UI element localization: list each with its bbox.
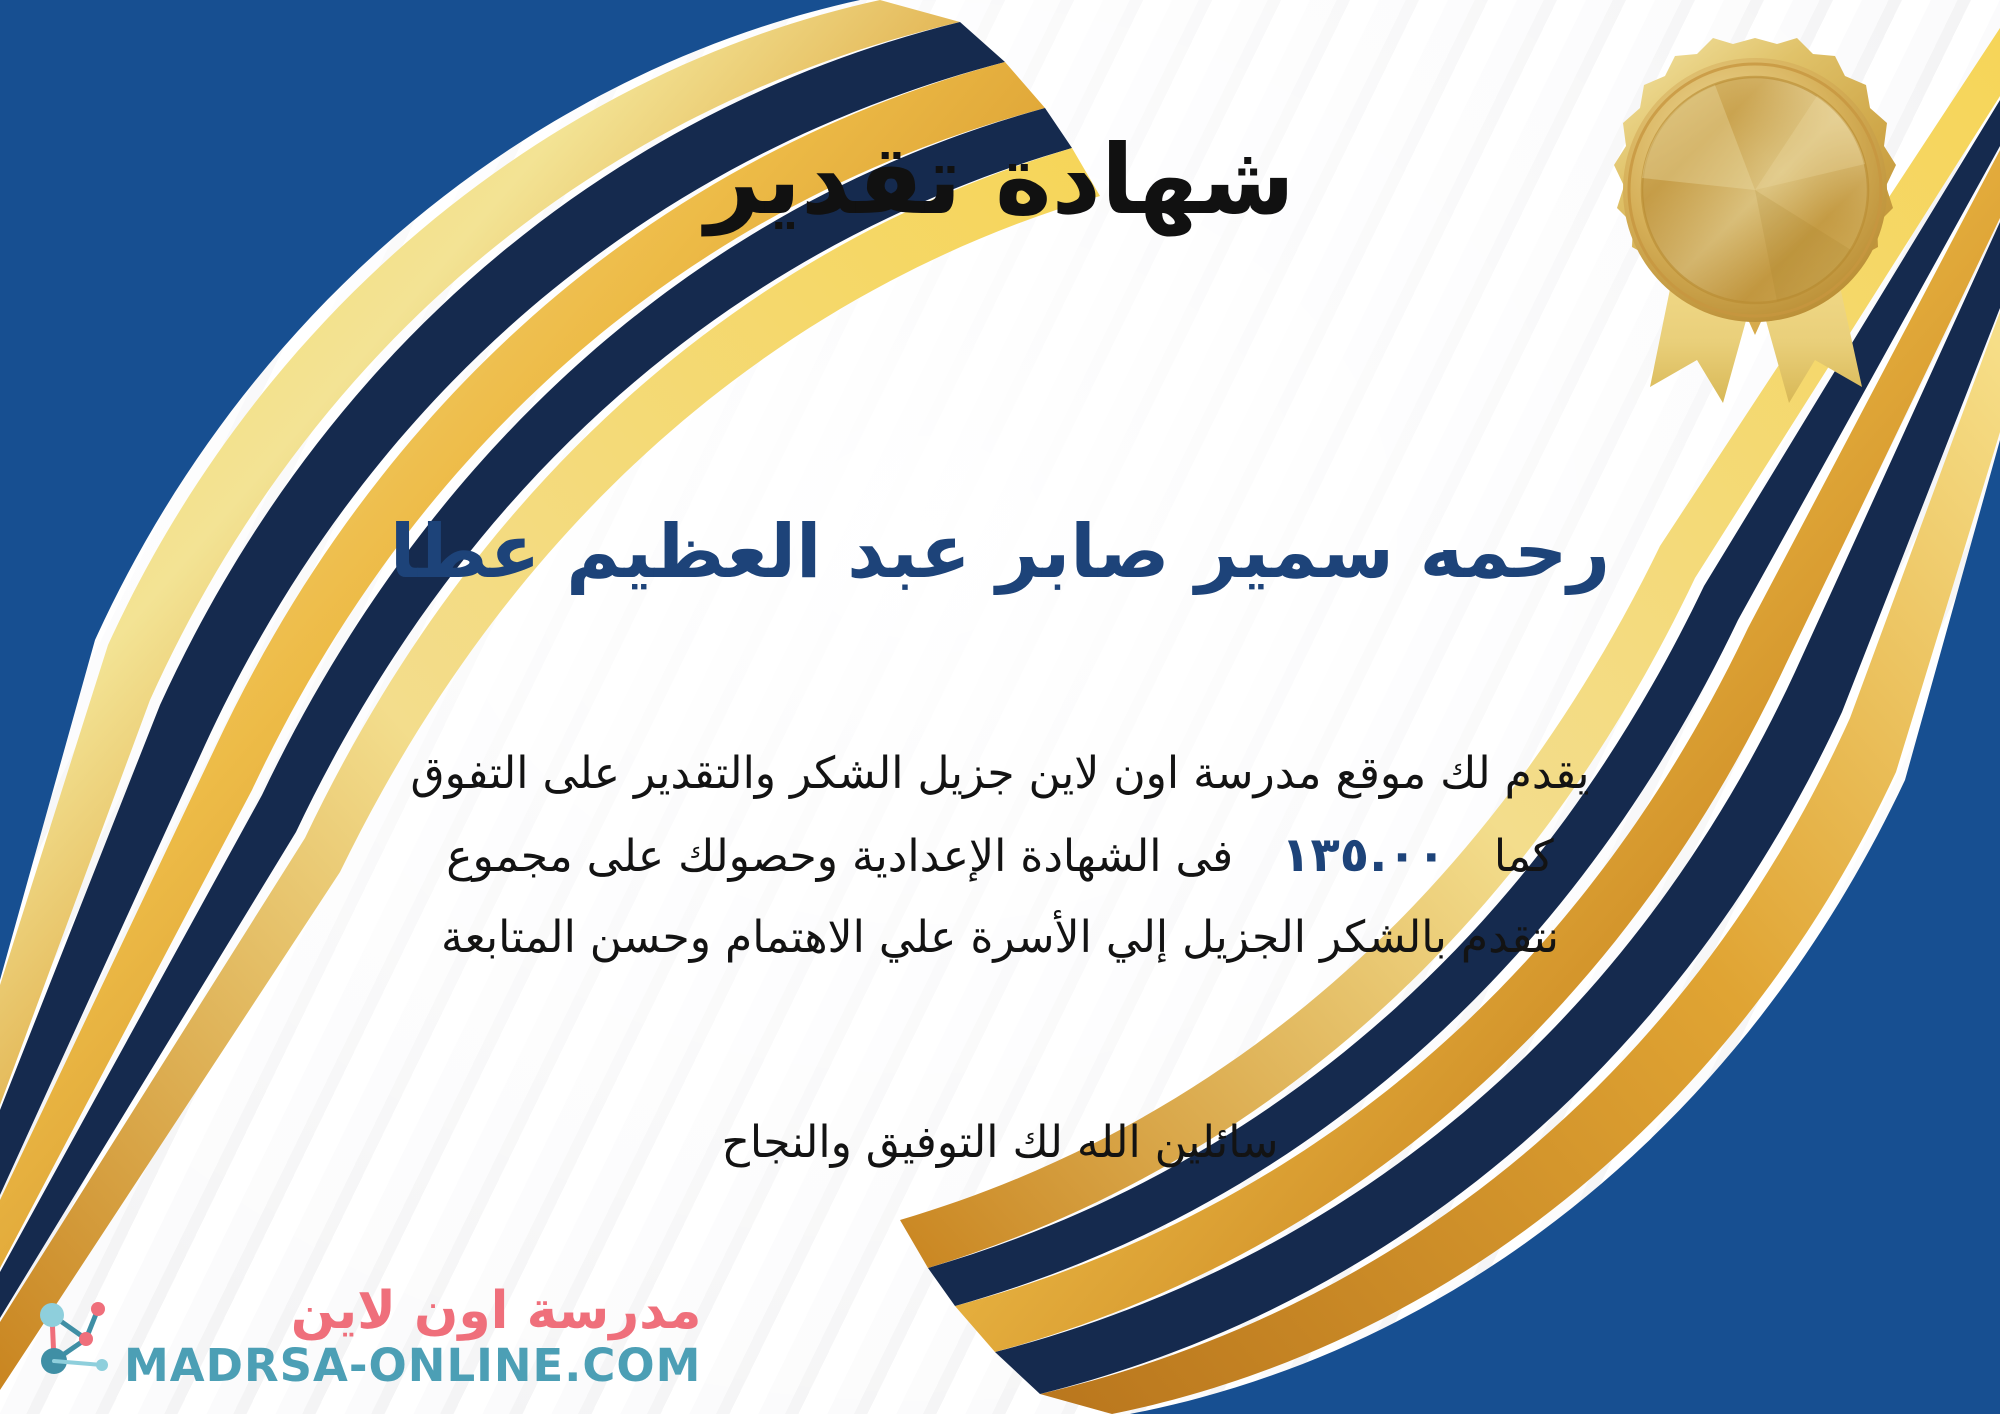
recipient-name: رحمه سمير صابر عبد العظيم عطا [0,508,2000,597]
body-line-2-head: فى الشهادة الإعدادية وحصولك على مجموع [446,831,1233,882]
brand-logo[interactable]: مدرسة اون لاين MADRSA-ONLINE.COM [28,1285,701,1388]
brand-website-url[interactable]: MADRSA-ONLINE.COM [124,1343,701,1388]
closing-wish-text: سائلين الله لك التوفيق والنجاح [0,1108,2000,1178]
page-title: شهادة تقدير [0,128,2000,234]
certificate-body-text: يقدم لك موقع مدرسة اون لاين جزيل الشكر و… [70,735,1930,977]
brand-name-arabic: مدرسة اون لاين [291,1285,702,1337]
body-line-2-tail: كما [1494,831,1554,882]
body-line-2: كما ١٣٥.٠٠ فى الشهادة الإعدادية وحصولك ع… [70,813,1930,898]
grade-total-value: ١٣٥.٠٠ [1247,827,1480,883]
network-nodes-icon [28,1289,114,1385]
certificate-page: شهادة تقدير رحمه سمير صابر عبد العظيم عط… [0,0,2000,1414]
brand-text-block: مدرسة اون لاين MADRSA-ONLINE.COM [124,1285,701,1388]
body-line-3: نتقدم بالشكر الجزيل إلي الأسرة علي الاهت… [70,899,1930,977]
body-line-1: يقدم لك موقع مدرسة اون لاين جزيل الشكر و… [70,735,1930,813]
certificate-content: شهادة تقدير رحمه سمير صابر عبد العظيم عط… [0,0,2000,1414]
